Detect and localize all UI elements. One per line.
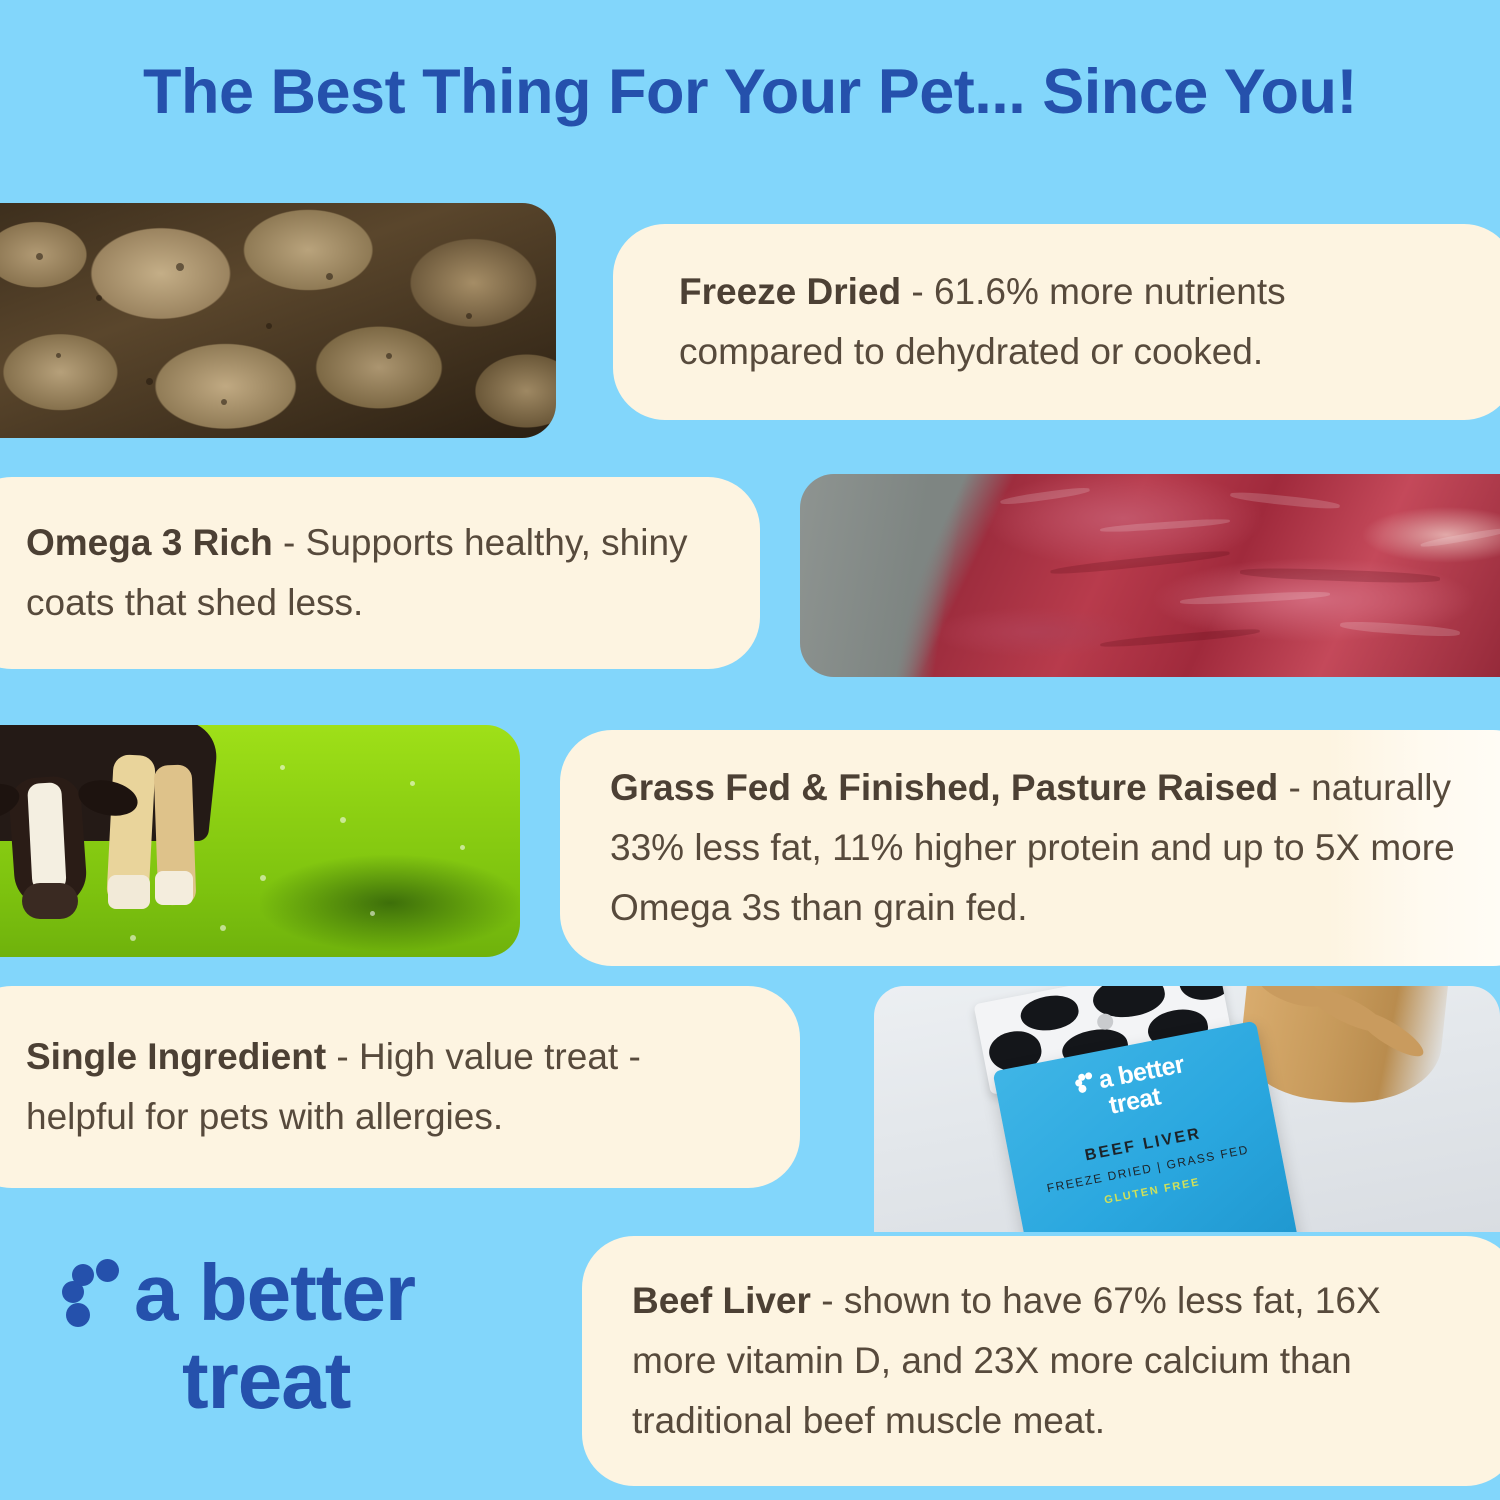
paw-print-icon [1074,1071,1097,1094]
image-product-pouch: a better treat BEEF LIVER FREEZE DRIED |… [874,986,1500,1232]
benefit-card-grass-fed: Grass Fed & Finished, Pasture Raised - n… [560,730,1500,966]
infographic-canvas: The Best Thing For Your Pet... Since You… [0,0,1500,1500]
benefit-dash: - [811,1280,844,1321]
benefit-dash: - [326,1036,359,1077]
benefit-title-single-ingredient: Single Ingredient [26,1036,326,1077]
benefit-text-freeze-dried: Freeze Dried - 61.6% more nutrients comp… [679,262,1450,382]
brand-logo-line2: treat [182,1341,350,1421]
benefit-text-grass-fed: Grass Fed & Finished, Pasture Raised - n… [610,758,1495,938]
benefit-card-beef-liver: Beef Liver - shown to have 67% less fat,… [582,1236,1500,1486]
cow-blaze [27,782,67,896]
benefit-card-omega-3: Omega 3 Rich - Supports healthy, shiny c… [0,477,760,669]
benefit-text-omega-3: Omega 3 Rich - Supports healthy, shiny c… [26,513,694,633]
paw-print-icon [62,1259,128,1325]
cow-hoof [155,871,193,905]
benefit-text-single-ingredient: Single Ingredient - High value treat - h… [26,1027,734,1147]
benefit-title-freeze-dried: Freeze Dried [679,271,901,312]
benefit-card-freeze-dried: Freeze Dried - 61.6% more nutrients comp… [613,224,1500,420]
cow-muzzle [22,883,78,919]
benefit-dash: - [901,271,934,312]
image-freeze-dried-liver [0,203,556,438]
benefit-card-single-ingredient: Single Ingredient - High value treat - h… [0,986,800,1188]
benefit-title-omega-3: Omega 3 Rich [26,522,273,563]
page-title: The Best Thing For Your Pet... Since You… [0,56,1500,128]
brand-logo: a better treat [62,1253,512,1453]
benefit-title-beef-liver: Beef Liver [632,1280,811,1321]
image-raw-beef [800,474,1500,677]
benefit-dash: - [1278,767,1311,808]
image-grazing-cow [0,725,520,957]
benefit-title-grass-fed: Grass Fed & Finished, Pasture Raised [610,767,1278,808]
benefit-text-beef-liver: Beef Liver - shown to have 67% less fat,… [632,1271,1468,1451]
benefit-dash: - [273,522,306,563]
brand-logo-line1: a better [134,1253,415,1333]
cow-hoof [108,875,150,909]
